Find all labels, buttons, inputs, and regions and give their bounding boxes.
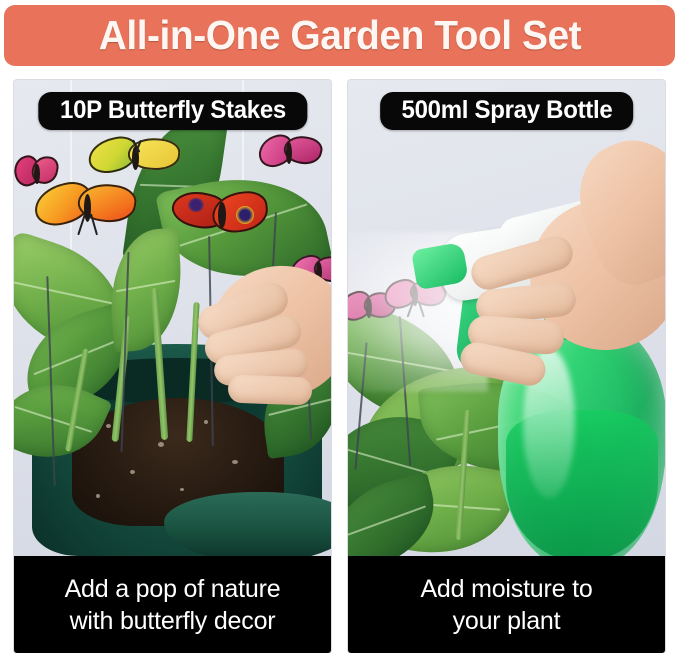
butterfly-orange xyxy=(34,184,136,240)
panel-caption-butterfly-stakes: Add a pop of nature with butterfly decor xyxy=(14,556,331,653)
panel-badge-label: 10P Butterfly Stakes xyxy=(60,97,286,124)
butterfly-red xyxy=(172,192,268,250)
caption-line-1: Add moisture to xyxy=(420,573,592,605)
panel-butterfly-stakes: 10P Butterfly Stakes Add a pop of nature… xyxy=(14,80,331,653)
panel-spray-bottle: 500ml Spray Bottle Add moisture to your … xyxy=(348,80,665,653)
header-banner: All-in-One Garden Tool Set xyxy=(4,5,675,66)
butterfly-yellow-green xyxy=(88,138,180,186)
panel-badge-label: 500ml Spray Bottle xyxy=(401,97,612,124)
product-infographic: All-in-One Garden Tool Set xyxy=(0,0,679,653)
panel-grid: 10P Butterfly Stakes Add a pop of nature… xyxy=(0,80,679,653)
panel-caption-spray-bottle: Add moisture to your plant xyxy=(348,556,665,653)
panel-badge-spray-bottle: 500ml Spray Bottle xyxy=(380,92,634,130)
spray-bottle-photo xyxy=(348,80,665,556)
butterfly-magenta xyxy=(258,136,322,180)
caption-line-2: your plant xyxy=(453,605,561,637)
panel-badge-butterfly-stakes: 10P Butterfly Stakes xyxy=(38,92,307,130)
caption-line-1: Add a pop of nature xyxy=(65,573,281,605)
butterfly-stakes-photo xyxy=(14,80,331,556)
pot-saucer xyxy=(164,492,331,556)
finger xyxy=(228,375,313,406)
caption-line-2: with butterfly decor xyxy=(70,605,276,637)
page-title: All-in-One Garden Tool Set xyxy=(98,15,580,56)
